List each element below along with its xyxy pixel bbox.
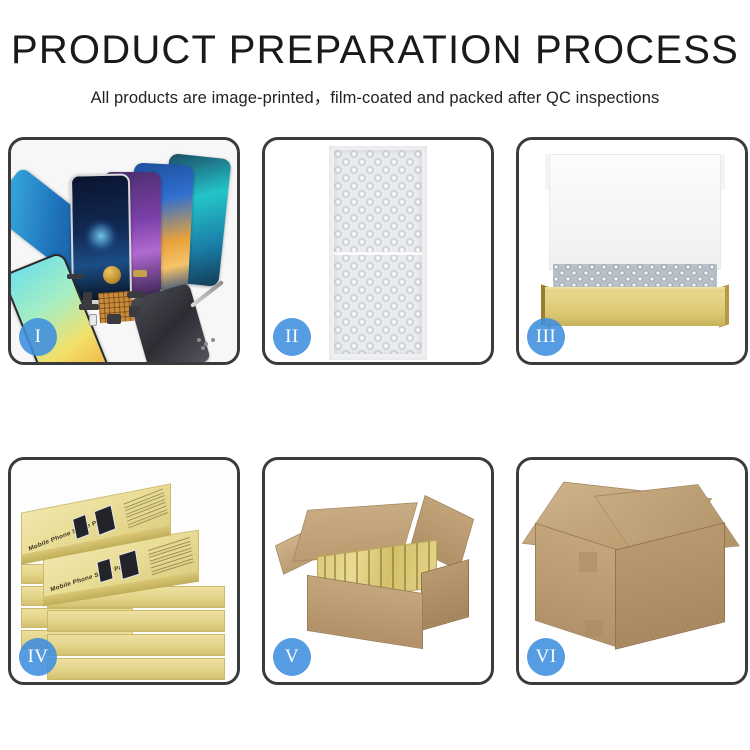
spare-part-cable bbox=[79, 304, 99, 310]
spare-part-speaker bbox=[107, 314, 121, 324]
box-screen-image-2 bbox=[94, 505, 117, 536]
bubble-wrap-seam bbox=[334, 252, 422, 255]
box-spec-lines-2 bbox=[148, 537, 194, 578]
step-badge-5: V bbox=[273, 638, 311, 676]
spare-part-flex-gold bbox=[133, 270, 147, 277]
product-preparation-process-page: PRODUCT PREPARATION PROCESS All products… bbox=[0, 0, 750, 750]
step-badge-2: II bbox=[273, 318, 311, 356]
spare-part-sim-tray bbox=[89, 314, 97, 326]
step-panel-4[interactable]: Mobile Phone Spare Parts Mobile Phone Sp… bbox=[8, 457, 240, 685]
step-panel-6[interactable]: VI bbox=[516, 457, 748, 685]
step-badge-6: VI bbox=[527, 638, 565, 676]
sealed-carton-tape-lower bbox=[585, 620, 603, 636]
screws-group bbox=[197, 338, 217, 350]
box-screen-image-4 bbox=[118, 549, 140, 580]
box-spec-lines-1 bbox=[124, 488, 169, 530]
page-title: PRODUCT PREPARATION PROCESS bbox=[0, 30, 750, 70]
step-panel-2[interactable]: II bbox=[262, 137, 494, 365]
step-badge-1: I bbox=[19, 318, 57, 356]
sealed-carton-tape-upper bbox=[579, 552, 597, 572]
stacked-box-r7 bbox=[47, 658, 225, 680]
spare-part-ribbon bbox=[127, 292, 145, 298]
page-header: PRODUCT PREPARATION PROCESS All products… bbox=[0, 0, 750, 108]
vibrator-motor-part bbox=[103, 266, 121, 284]
step-badge-3: III bbox=[527, 318, 565, 356]
phone-dark-blue bbox=[70, 173, 132, 302]
box-screen-image-1 bbox=[72, 514, 90, 540]
step-badge-4: IV bbox=[19, 638, 57, 676]
spare-part-camera bbox=[129, 306, 140, 317]
carton-side-right bbox=[421, 559, 469, 631]
box-screen-image-3 bbox=[96, 558, 113, 584]
stacked-box-r6 bbox=[47, 634, 225, 656]
step-panel-1[interactable]: I bbox=[8, 137, 240, 365]
stacked-box-r5 bbox=[47, 610, 225, 632]
process-steps-grid: I II III bbox=[8, 137, 742, 685]
page-subtitle: All products are image-printed，film-coat… bbox=[0, 84, 750, 108]
inner-box-white-lid bbox=[549, 154, 721, 270]
spare-part-connector bbox=[67, 274, 83, 279]
inner-box-front-yellow bbox=[545, 292, 725, 326]
step-panel-3[interactable]: III bbox=[516, 137, 748, 365]
step-panel-5[interactable]: V bbox=[262, 457, 494, 685]
spare-part-button bbox=[141, 316, 151, 324]
